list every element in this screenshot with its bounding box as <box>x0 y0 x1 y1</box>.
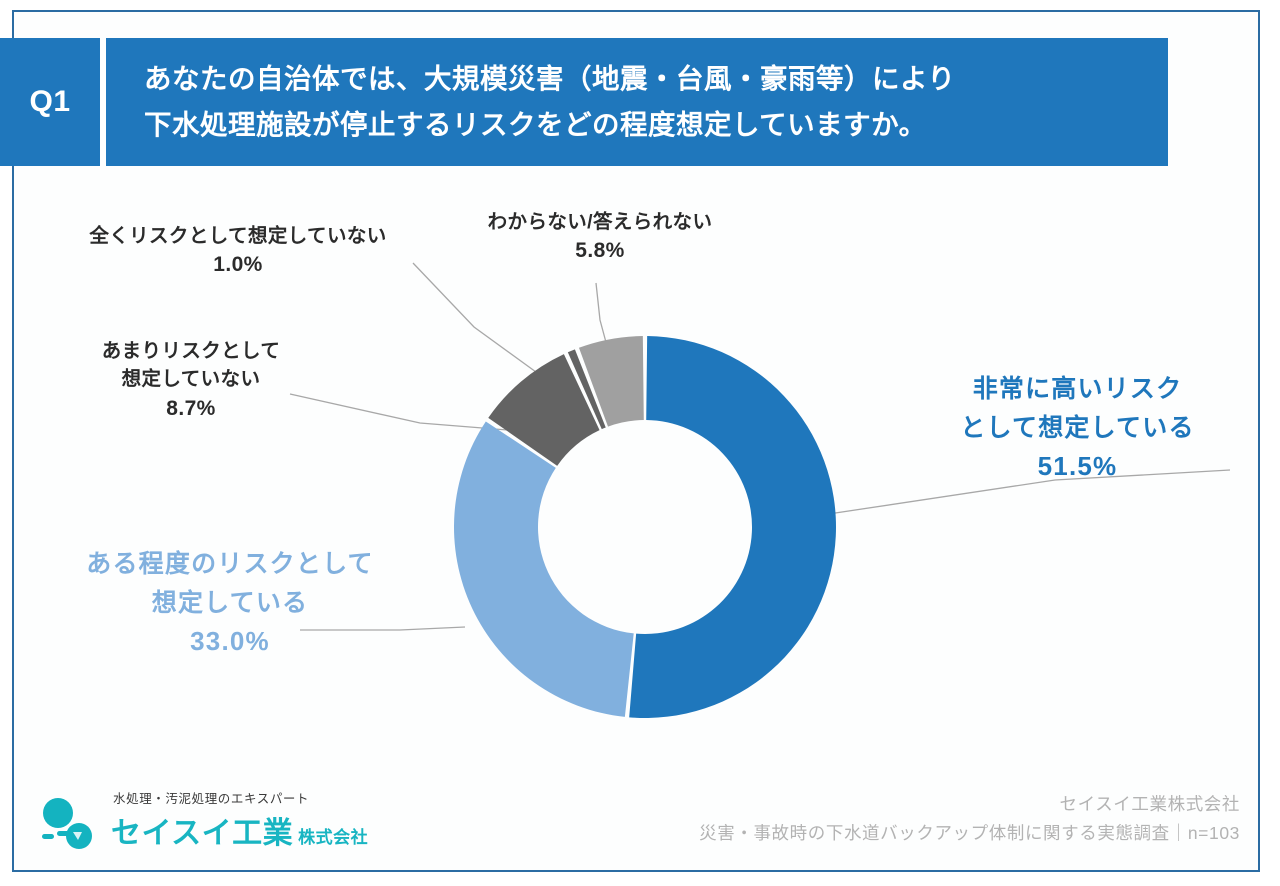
callout-not-assumed-at-all: 全くリスクとして想定していない 1.0% <box>48 222 428 281</box>
question-title-banner: あなたの自治体では、大規模災害（地震・台風・豪雨等）により 下水処理施設が停止す… <box>106 38 1168 166</box>
callout-some-label-2: 想定している <box>30 584 430 623</box>
footer: 水処理・汚泥処理のエキスパート セイスイ工業 株式会社 セイスイ工業株式会社 災… <box>0 782 1280 878</box>
question-number-label: Q1 <box>29 85 70 119</box>
callout-high-label-2: として想定している <box>900 409 1255 448</box>
callout-none-value: 1.0% <box>48 250 428 280</box>
callout-some-risk: ある程度のリスクとして 想定している 33.0% <box>30 545 430 660</box>
callout-very-high-risk: 非常に高いリスク として想定している 51.5% <box>900 370 1255 485</box>
callout-little-label-1: あまりリスクとして <box>62 337 320 365</box>
question-number-badge: Q1 <box>0 38 100 166</box>
logo-company-name: セイスイ工業 <box>111 808 293 852</box>
question-title-line-2: 下水処理施設が停止するリスクをどの程度想定していますか。 <box>144 102 1168 148</box>
callout-little-value: 8.7% <box>62 394 320 424</box>
callout-high-value: 51.5% <box>900 448 1255 486</box>
footer-source-info: セイスイ工業株式会社 災害・事故時の下水道バックアップ体制に関する実態調査｜n=… <box>699 790 1240 848</box>
footer-survey-info: 災害・事故時の下水道バックアップ体制に関する実態調査｜n=103 <box>699 819 1240 848</box>
footer-company: セイスイ工業株式会社 <box>699 790 1240 819</box>
company-logo: 水処理・汚泥処理のエキスパート セイスイ工業 株式会社 <box>38 788 368 854</box>
donut-slices-group <box>454 336 836 718</box>
water-drop-logo-icon <box>38 796 102 854</box>
donut-slice-0 <box>629 336 836 718</box>
logo-company-suffix: 株式会社 <box>298 823 368 848</box>
callout-some-label-1: ある程度のリスクとして <box>30 545 430 584</box>
logo-tagline: 水処理・汚泥処理のエキスパート <box>113 788 368 807</box>
callout-little-risk: あまりリスクとして 想定していない 8.7% <box>62 337 320 424</box>
callout-some-value: 33.0% <box>30 623 430 661</box>
callout-none-label: 全くリスクとして想定していない <box>48 222 428 250</box>
callout-unknown-label: わからない/答えられない <box>455 208 745 236</box>
callout-high-label-1: 非常に高いリスク <box>900 370 1255 409</box>
donut-slice-1 <box>454 421 634 716</box>
leader-line-none <box>413 263 547 380</box>
callout-unknown: わからない/答えられない 5.8% <box>455 208 745 267</box>
logo-text: 水処理・汚泥処理のエキスパート セイスイ工業 株式会社 <box>111 788 368 854</box>
slide-root: Q1 あなたの自治体では、大規模災害（地震・台風・豪雨等）により 下水処理施設が… <box>0 0 1280 886</box>
callout-unknown-value: 5.8% <box>455 236 745 266</box>
callout-little-label-2: 想定していない <box>62 365 320 393</box>
question-title-line-1: あなたの自治体では、大規模災害（地震・台風・豪雨等）により <box>144 56 1168 102</box>
